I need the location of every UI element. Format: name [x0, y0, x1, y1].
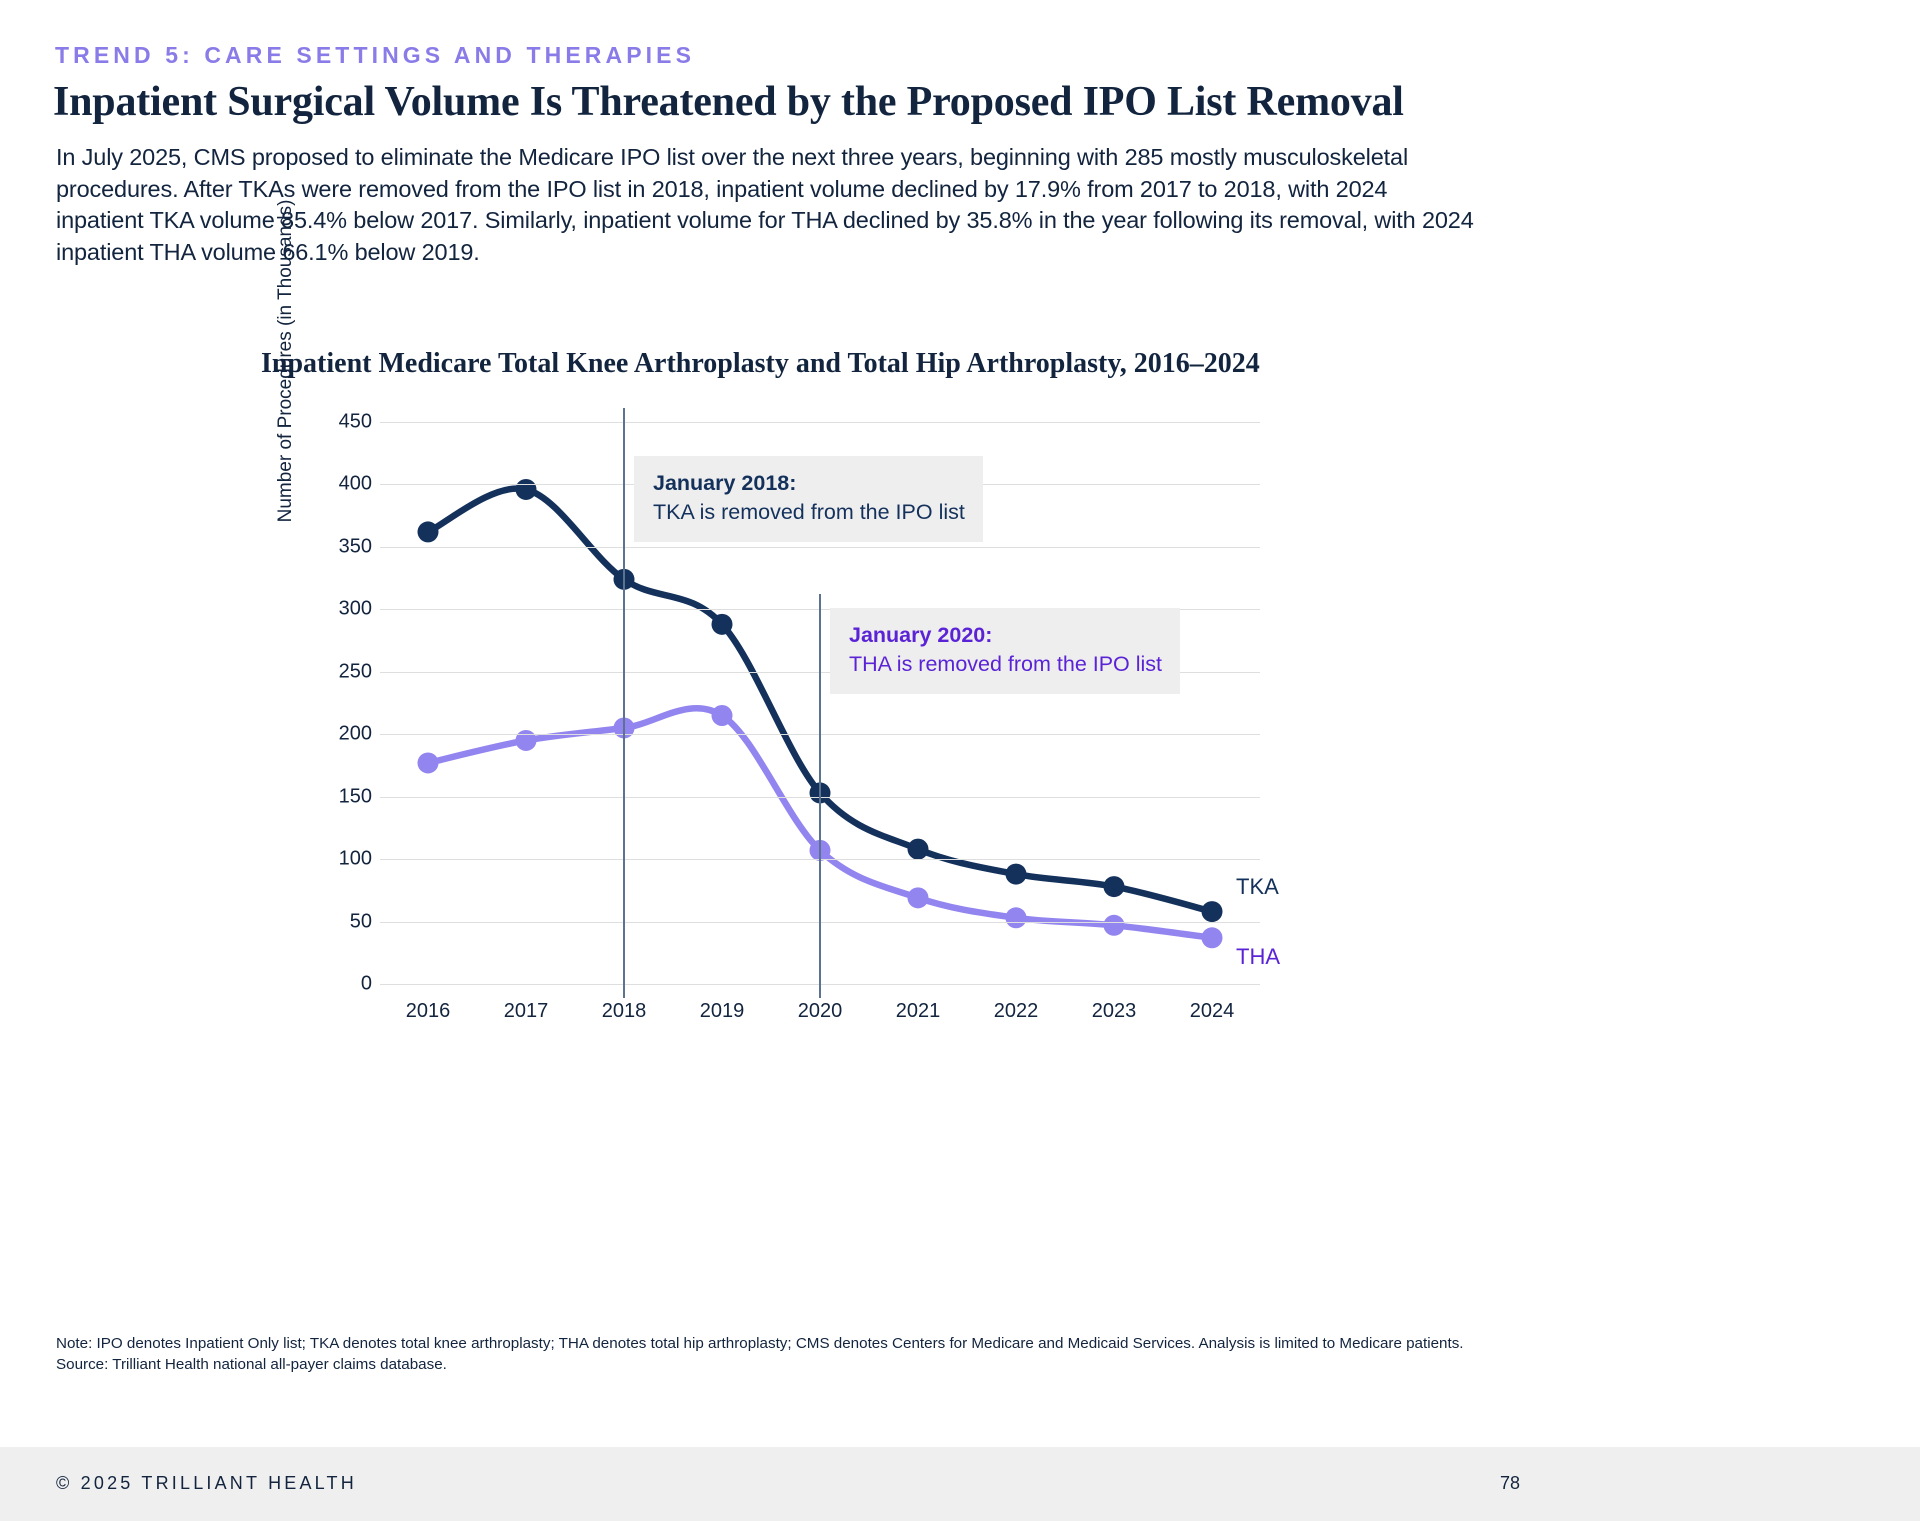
data-point[interactable]: [1006, 864, 1027, 885]
source-line: Source: Trilliant Health national all-pa…: [56, 1355, 1486, 1376]
x-axis-tick: 2019: [700, 1000, 745, 1023]
data-point[interactable]: [1104, 876, 1125, 897]
y-axis-tick: 400: [292, 473, 372, 496]
y-axis-tick: 150: [292, 785, 372, 808]
page-title: Inpatient Surgical Volume Is Threatened …: [53, 78, 1404, 126]
series-label-tha: THA: [1236, 944, 1280, 970]
x-axis-tick: 2018: [602, 1000, 647, 1023]
x-axis-tick: 2021: [896, 1000, 941, 1023]
x-axis-tick: 2017: [504, 1000, 549, 1023]
gridline: [380, 547, 1260, 548]
annotation-rule-2018: [623, 408, 625, 998]
section-eyebrow: TREND 5: CARE SETTINGS AND THERAPIES: [55, 42, 695, 69]
data-point[interactable]: [1202, 901, 1223, 922]
lede-paragraph: In July 2025, CMS proposed to eliminate …: [56, 142, 1476, 268]
annotation-body: TKA is removed from the IPO list: [653, 498, 965, 527]
x-axis-tick: 2022: [994, 1000, 1039, 1023]
y-axis-tick: 250: [292, 660, 372, 683]
note-line: Note: IPO denotes Inpatient Only list; T…: [56, 1334, 1486, 1355]
annotation-callout-2020: January 2020:THA is removed from the IPO…: [830, 608, 1180, 694]
slide-page: TREND 5: CARE SETTINGS AND THERAPIES Inp…: [0, 0, 1920, 1521]
annotation-head: January 2020:: [849, 621, 1162, 650]
data-point[interactable]: [1104, 915, 1125, 936]
data-point[interactable]: [712, 614, 733, 635]
y-axis-tick: 450: [292, 411, 372, 434]
data-point[interactable]: [1006, 907, 1027, 928]
y-axis-tick: 100: [292, 848, 372, 871]
data-point[interactable]: [712, 705, 733, 726]
y-axis-tick: 0: [292, 973, 372, 996]
data-point[interactable]: [1202, 927, 1223, 948]
y-axis-tick: 50: [292, 910, 372, 933]
slide-footer: © 2025 TRILLIANT HEALTH 78: [0, 1447, 1920, 1521]
data-point[interactable]: [516, 730, 537, 751]
data-point[interactable]: [516, 479, 537, 500]
gridline: [380, 422, 1260, 423]
y-axis-tick: 300: [292, 598, 372, 621]
annotation-body: THA is removed from the IPO list: [849, 650, 1162, 679]
data-point[interactable]: [418, 521, 439, 542]
data-point[interactable]: [908, 839, 929, 860]
x-axis-tick: 2016: [406, 1000, 451, 1023]
x-axis-tick: 2023: [1092, 1000, 1137, 1023]
x-axis-tick: 2024: [1190, 1000, 1235, 1023]
page-number: 78: [1500, 1473, 1520, 1494]
chart-title: Inpatient Medicare Total Knee Arthroplas…: [261, 348, 1260, 380]
plot-area: 4504003503002502001501005002016201720182…: [380, 422, 1260, 984]
data-point[interactable]: [908, 887, 929, 908]
annotation-callout-2018: January 2018:TKA is removed from the IPO…: [634, 456, 983, 542]
annotation-rule-2020: [819, 594, 821, 998]
annotation-head: January 2018:: [653, 469, 965, 498]
footnotes: Note: IPO denotes Inpatient Only list; T…: [56, 1334, 1486, 1375]
series-label-tka: TKA: [1236, 874, 1279, 900]
y-axis-tick: 200: [292, 723, 372, 746]
x-axis-tick: 2020: [798, 1000, 843, 1023]
y-axis-tick: 350: [292, 535, 372, 558]
chart-figure: Number of Procedures (in Thousands) 4504…: [283, 408, 1283, 1008]
copyright-text: © 2025 TRILLIANT HEALTH: [56, 1473, 357, 1494]
data-point[interactable]: [418, 752, 439, 773]
